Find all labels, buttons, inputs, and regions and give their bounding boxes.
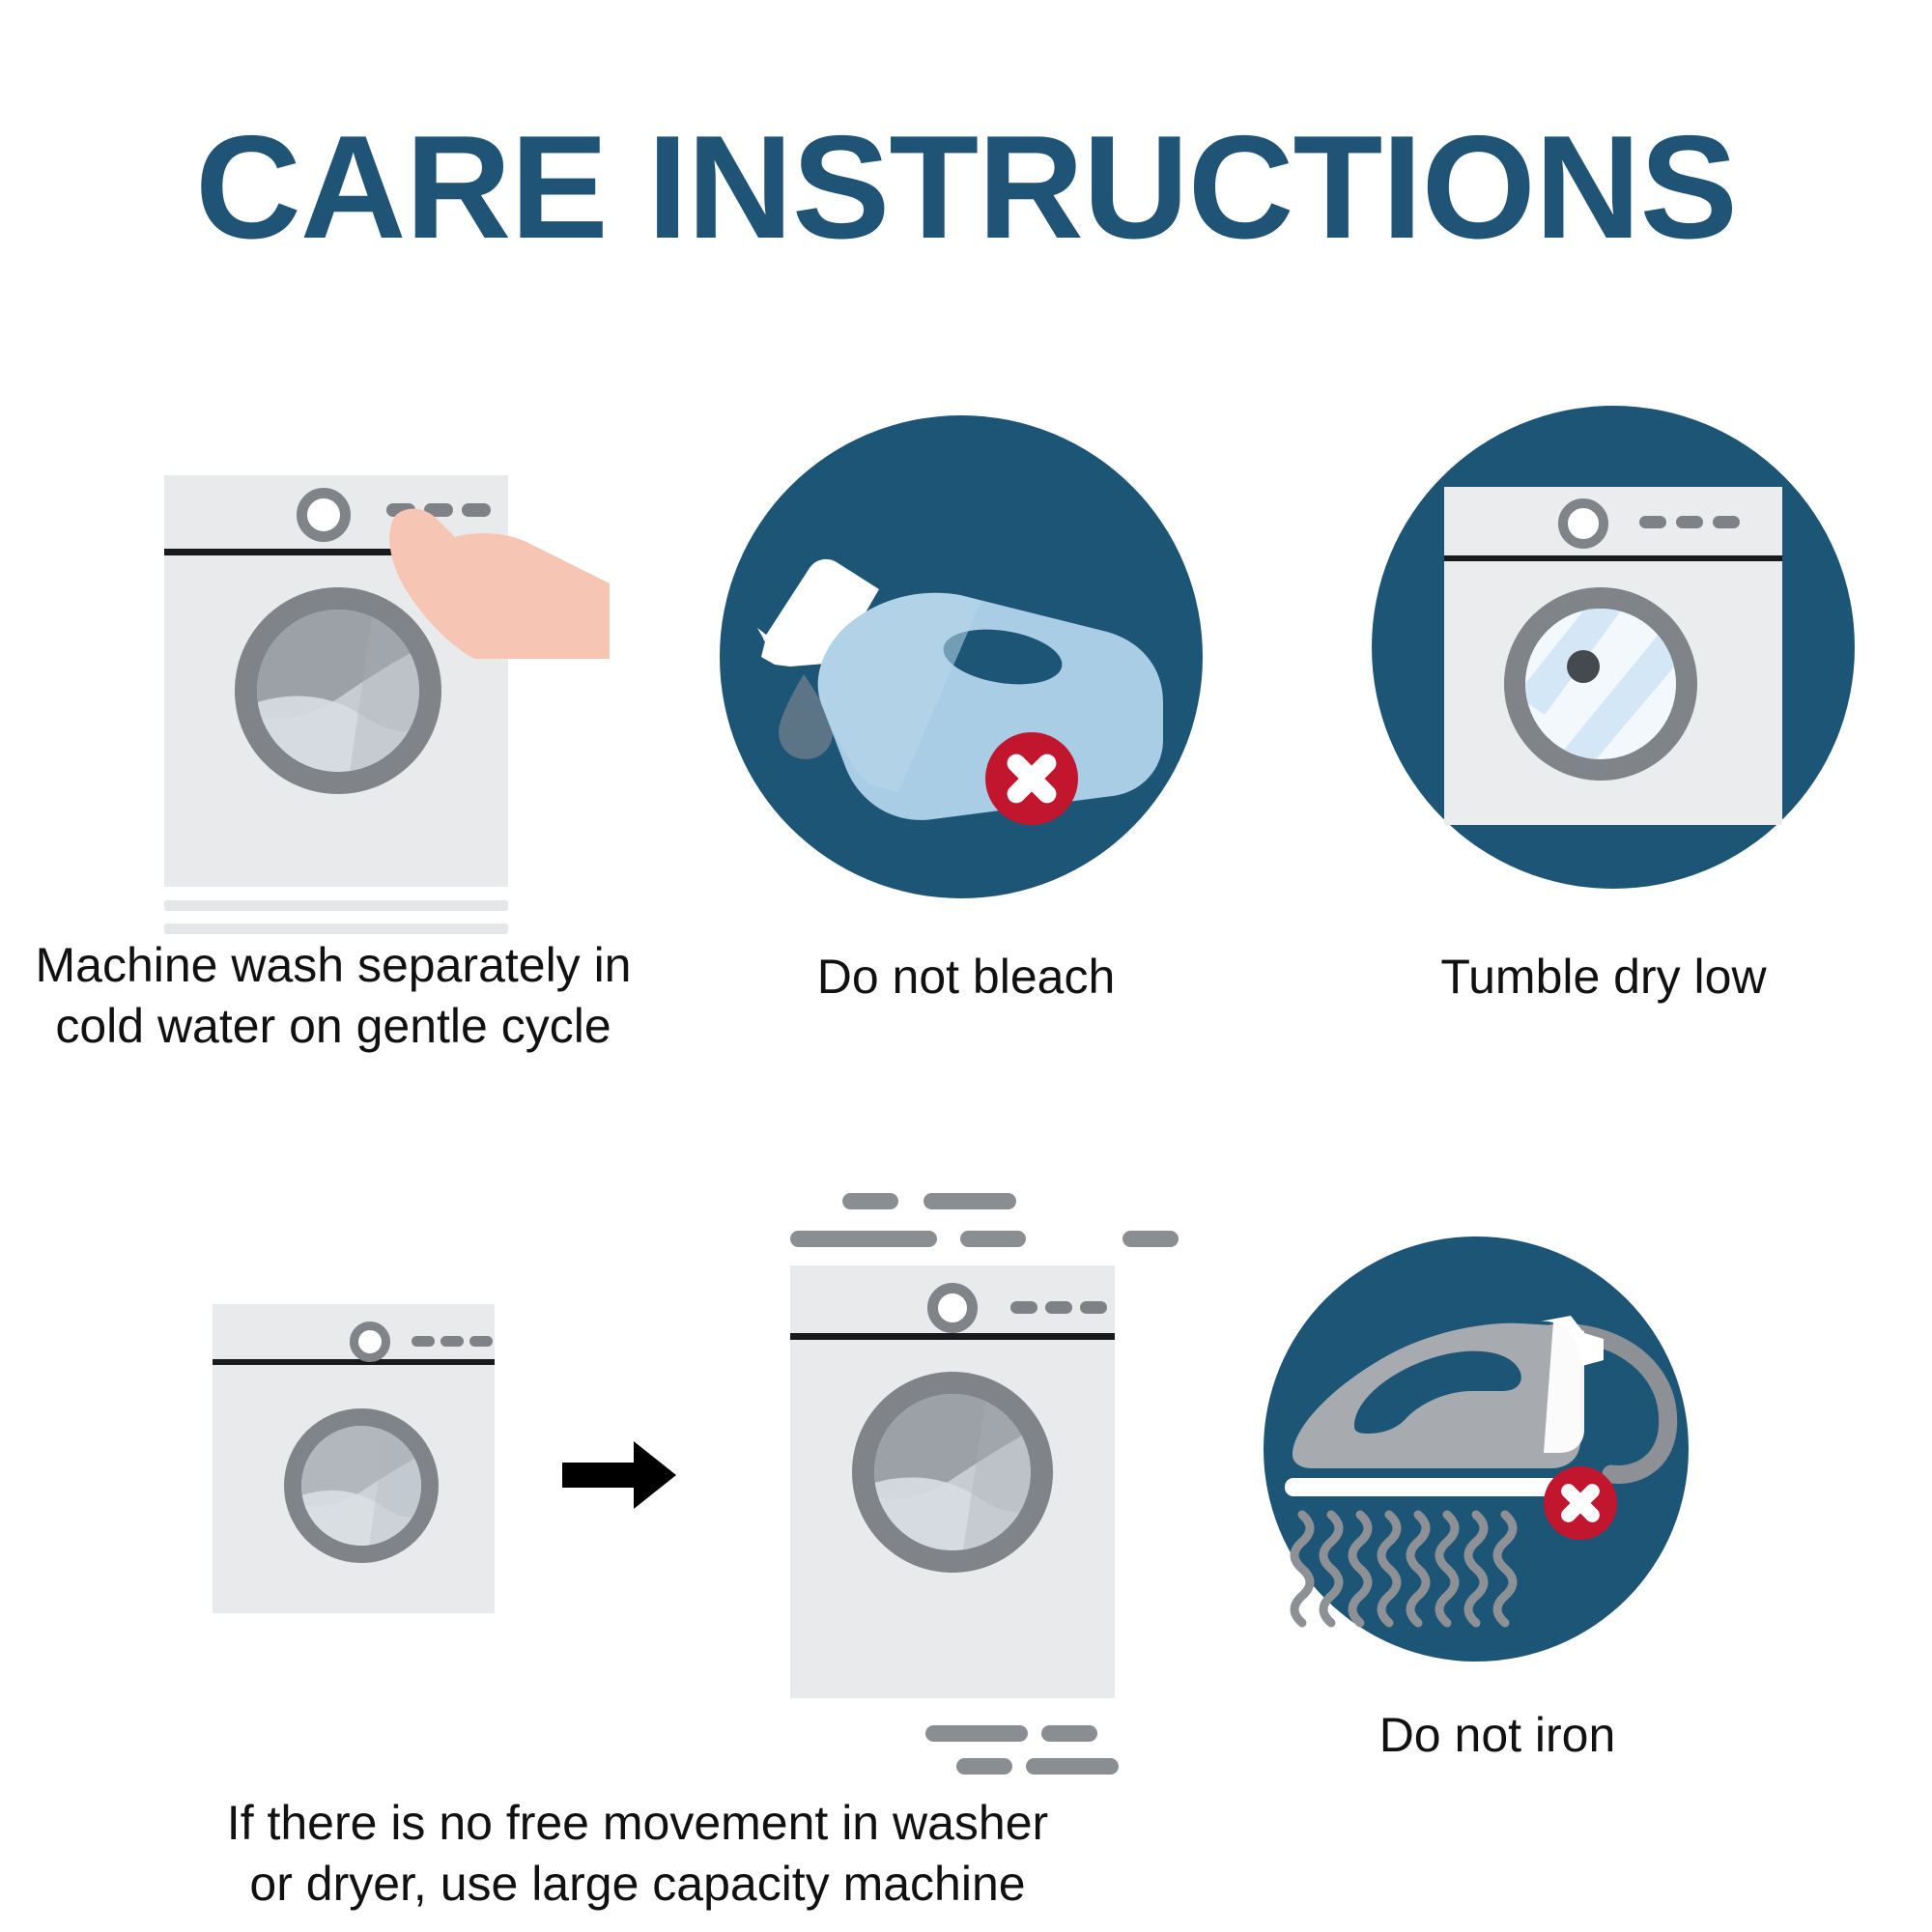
large-washer-knob-icon <box>927 1283 978 1333</box>
motion-line-top-5 <box>1122 1231 1179 1247</box>
transition-arrow-icon <box>562 1441 676 1509</box>
do-not-iron-badge <box>1544 1466 1617 1540</box>
washer-knob-icon <box>297 488 351 542</box>
small-washer-button-2 <box>440 1336 464 1347</box>
pointing-hand-icon <box>382 495 613 659</box>
large-washer-door-glass <box>874 1394 1031 1550</box>
item-large-capacity-machine: If there is no free movement in washer o… <box>126 1150 1150 1884</box>
item-do-not-bleach: Do not bleach <box>667 386 1265 1014</box>
small-washer-panel-divider <box>213 1359 495 1365</box>
dryer-knob-icon <box>1558 498 1608 549</box>
caption-line-1: Machine wash separately in <box>0 935 676 996</box>
caption-line-1: Tumble dry low <box>1275 947 1932 1008</box>
caption-do-not-iron: Do not iron <box>1207 1705 1787 1766</box>
motion-line-top-4 <box>960 1231 1026 1247</box>
motion-line-bottom-3 <box>956 1758 1012 1775</box>
caption-large-capacity-machine: If there is no free movement in washer o… <box>97 1793 1179 1914</box>
motion-line-bottom-1 <box>925 1725 1028 1742</box>
motion-line-bottom-4 <box>1026 1758 1119 1775</box>
dryer-button-3 <box>1713 516 1740 528</box>
small-washer-button-3 <box>469 1336 493 1347</box>
caption-line-2: cold water on gentle cycle <box>0 996 676 1057</box>
large-washer-panel-divider <box>790 1333 1115 1340</box>
small-washer-knob-icon <box>350 1321 390 1362</box>
large-washer-button-3 <box>1080 1301 1107 1314</box>
motion-line-bottom-2 <box>1041 1725 1097 1742</box>
caption-line-1: Do not iron <box>1207 1705 1787 1766</box>
small-washer-button-1 <box>412 1336 435 1347</box>
caption-line-1: Do not bleach <box>667 947 1265 1008</box>
item-tumble-dry-low: Tumble dry low <box>1275 386 1932 1014</box>
dryer-button-1 <box>1639 516 1666 528</box>
caption-do-not-bleach: Do not bleach <box>667 947 1265 1008</box>
do-not-bleach-badge <box>985 732 1078 825</box>
bleach-bottle-icon <box>753 512 1188 860</box>
page-title: CARE INSTRUCTIONS <box>0 114 1932 261</box>
motion-line-top-1 <box>842 1193 898 1209</box>
item-do-not-iron: Do not iron <box>1207 1217 1864 1816</box>
large-washer-button-1 <box>1010 1301 1037 1314</box>
caption-machine-wash: Machine wash separately in cold water on… <box>0 935 676 1056</box>
caption-line-1: If there is no free movement in washer <box>97 1793 1179 1854</box>
item-machine-wash: Machine wash separately in cold water on… <box>0 425 667 908</box>
washer-base-line-2 <box>164 923 508 934</box>
motion-line-top-2 <box>923 1193 1016 1209</box>
dryer-glass-shine-icon <box>1525 609 1676 759</box>
care-instructions-infographic: CARE INSTRUCTIONS <box>0 0 1932 1932</box>
caption-line-2: or dryer, use large capacity machine <box>97 1854 1179 1915</box>
laundry-shapes-icon <box>301 1426 421 1546</box>
steam-iron-icon <box>1264 1236 1689 1662</box>
large-washer-button-2 <box>1045 1301 1072 1314</box>
dryer-center-dot <box>1567 650 1600 683</box>
dryer-door-glass <box>1525 609 1676 759</box>
washer-base-line-1 <box>164 900 508 911</box>
small-washer-door-glass <box>301 1426 421 1546</box>
laundry-shapes-icon <box>874 1394 1031 1550</box>
caption-tumble-dry-low: Tumble dry low <box>1275 947 1932 1008</box>
dryer-button-2 <box>1676 516 1703 528</box>
motion-line-top-3 <box>790 1231 937 1247</box>
dryer-panel-divider <box>1444 555 1782 561</box>
